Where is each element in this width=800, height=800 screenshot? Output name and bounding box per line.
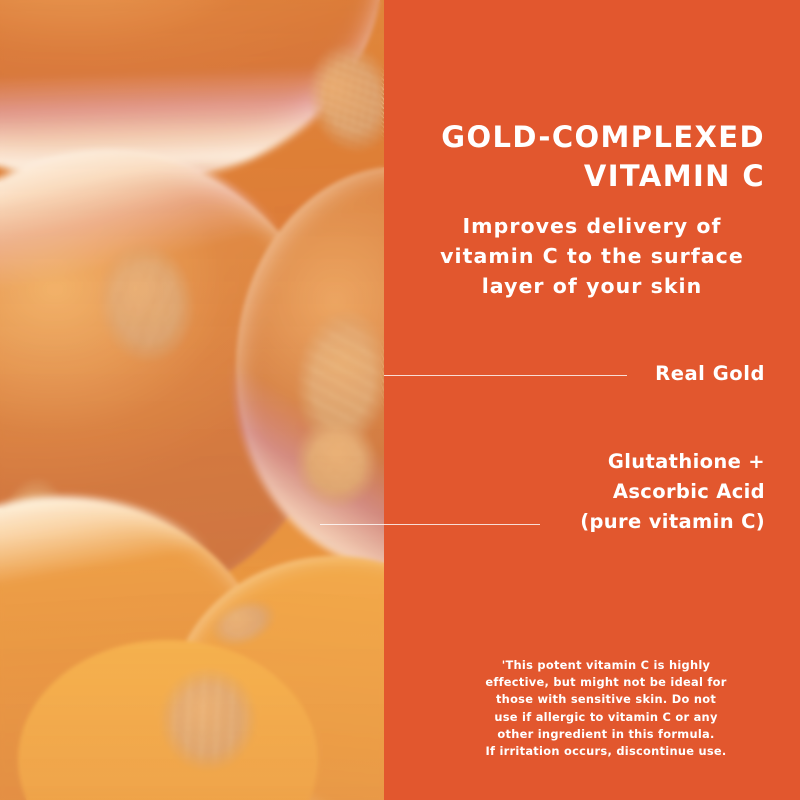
leader-line-real-gold [384, 375, 627, 376]
subheadline-line-1: Improves delivery of [417, 211, 767, 241]
disclaimer-line-5: other ingredient in this formula. [447, 726, 765, 743]
disclaimer-line-3: those with sensitive skin. Do not [447, 691, 765, 708]
disclaimer-line-1: 'This potent vitamin C is highly [447, 657, 765, 674]
disclaimer-line-6: If irritation occurs, discontinue use. [447, 743, 765, 760]
callout-label-real-gold: Real Gold [655, 362, 765, 385]
headline-line-2: VITAMIN C [405, 157, 765, 196]
disclaimer-text: 'This potent vitamin C is highly effecti… [447, 657, 765, 760]
product-macro-photo [0, 0, 384, 800]
subheadline-line-2: vitamin C to the surface [417, 241, 767, 271]
headline-line-1: GOLD-COMPLEXED [405, 118, 765, 157]
product-info-graphic: GOLD-COMPLEXED VITAMIN C Improves delive… [0, 0, 800, 800]
disclaimer-line-2: effective, but might not be ideal for [447, 674, 765, 691]
callout-glutathione-line-2: Ascorbic Acid [435, 477, 765, 507]
callout-glutathione-line-1: Glutathione + [435, 447, 765, 477]
callout-label-glutathione: Glutathione + Ascorbic Acid (pure vitami… [435, 447, 765, 537]
page-title: GOLD-COMPLEXED VITAMIN C [405, 118, 765, 196]
disclaimer-line-4: use if allergic to vitamin C or any [447, 709, 765, 726]
callout-glutathione-line-3: (pure vitamin C) [435, 507, 765, 537]
subheadline: Improves delivery of vitamin C to the su… [417, 211, 767, 301]
subheadline-line-3: layer of your skin [417, 271, 767, 301]
